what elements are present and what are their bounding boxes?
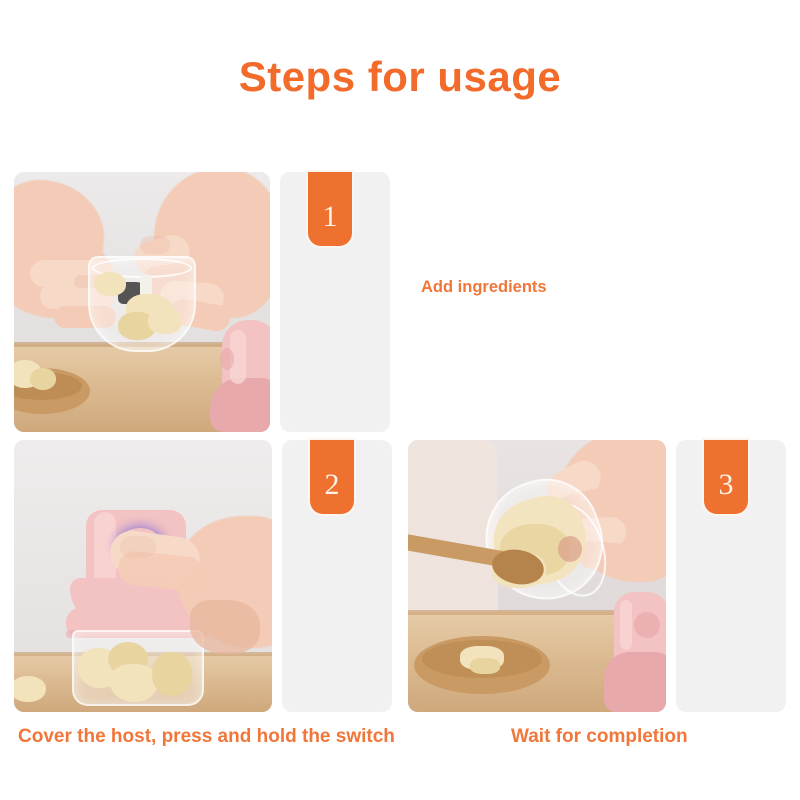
step-1-badge-panel: 1 bbox=[280, 172, 390, 432]
step-3-photo bbox=[408, 440, 666, 712]
step-3-caption: Wait for completion bbox=[511, 726, 688, 748]
step-card-1: 1 bbox=[14, 172, 390, 432]
step-card-2: 2 bbox=[14, 440, 392, 712]
step-card-3: 3 bbox=[408, 440, 786, 712]
step-1-photo bbox=[14, 172, 270, 432]
step-2-caption: Cover the host, press and hold the switc… bbox=[18, 726, 395, 748]
page-title: Steps for usage bbox=[0, 56, 800, 98]
step-2-photo bbox=[14, 440, 272, 712]
step-3-badge-panel: 3 bbox=[676, 440, 786, 712]
step-1-caption: Add ingredients bbox=[421, 278, 547, 297]
step-2-number-badge: 2 bbox=[310, 440, 354, 514]
step-1-number-badge: 1 bbox=[308, 172, 352, 246]
step-3-number-badge: 3 bbox=[704, 440, 748, 514]
step-2-badge-panel: 2 bbox=[282, 440, 392, 712]
